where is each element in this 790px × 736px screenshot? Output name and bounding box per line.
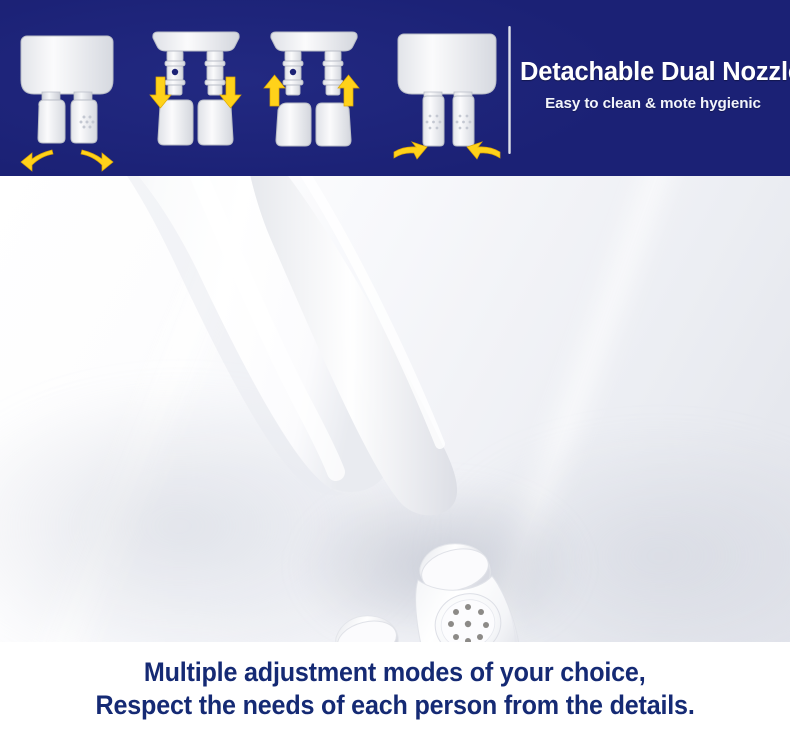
backdrop-streak-2 <box>466 176 703 642</box>
diagram-detach-down <box>144 22 248 172</box>
seat-arm <box>0 176 790 642</box>
product-marketing-image: Detachable Dual Nozzle Easy to clean & m… <box>0 0 790 736</box>
product-photo <box>0 176 790 642</box>
nozzle-contact-shadow <box>290 476 590 626</box>
feature-banner: Detachable Dual Nozzle Easy to clean & m… <box>0 0 790 176</box>
diagram-assembled-swivel <box>8 22 126 172</box>
backdrop-shadow-lower-left <box>0 376 440 642</box>
caption-line-1: Multiple adjustment modes of your choice… <box>144 657 646 688</box>
diagram-attach-up <box>262 22 366 172</box>
banner-divider <box>508 26 511 154</box>
backdrop-streak-1 <box>10 176 300 642</box>
diagram-reassembled-inward <box>388 22 506 172</box>
rear-nozzle-spray-holes <box>448 604 489 642</box>
banner-subtitle: Easy to clean & mote hygienic <box>520 95 786 112</box>
caption-line-2: Respect the needs of each person from th… <box>95 690 694 721</box>
banner-title: Detachable Dual Nozzle <box>520 58 786 87</box>
backdrop-shadow-lower-right <box>430 426 790 642</box>
arrow-outward-right <box>81 150 113 171</box>
caption-block: Multiple adjustment modes of your choice… <box>0 642 790 736</box>
arrow-up-left <box>264 75 285 106</box>
arrow-inward-left <box>394 142 427 159</box>
banner-text-block: Detachable Dual Nozzle Easy to clean & m… <box>520 58 786 112</box>
arrow-outward-left <box>21 150 53 171</box>
